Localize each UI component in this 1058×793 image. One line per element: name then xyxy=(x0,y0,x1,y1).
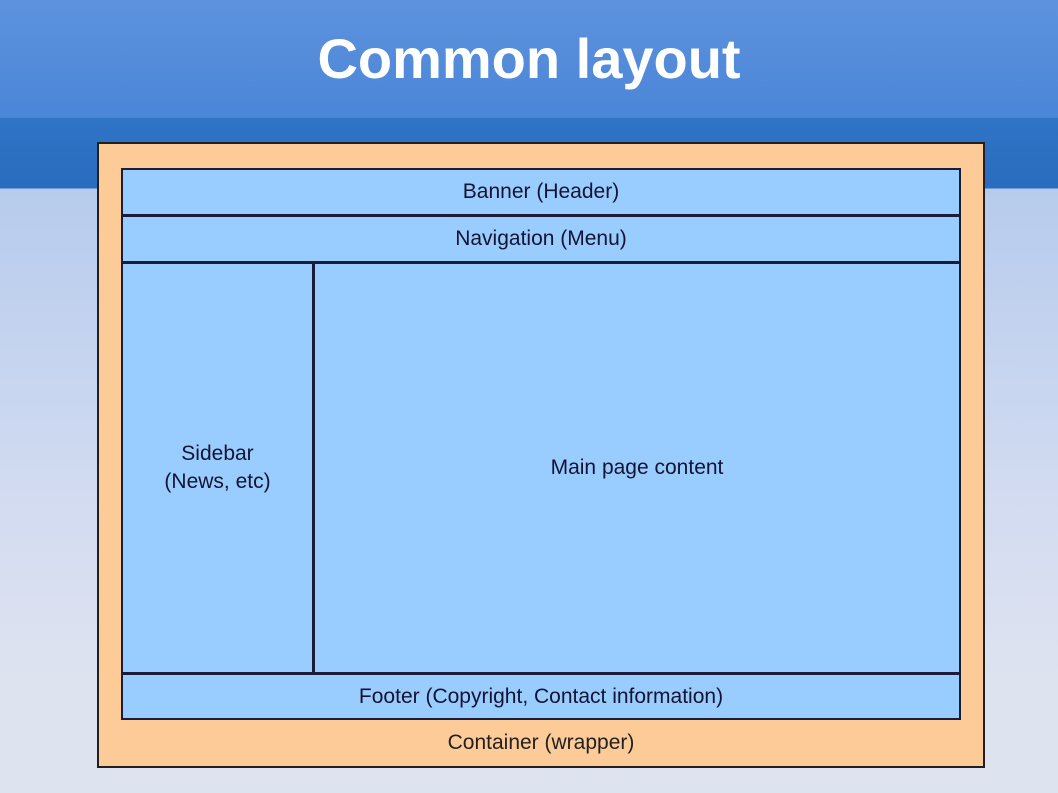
main-content-label: Main page content xyxy=(551,454,724,482)
sidebar-label-group: Sidebar (News, etc) xyxy=(164,440,270,496)
navigation-menu-label: Navigation (Menu) xyxy=(455,225,627,253)
main-content-box: Main page content xyxy=(313,262,961,674)
navigation-menu-box: Navigation (Menu) xyxy=(121,215,961,263)
container-wrapper-label: Container (wrapper) xyxy=(99,726,983,760)
banner-header-box: Banner (Header) xyxy=(121,168,961,216)
banner-header-label: Banner (Header) xyxy=(463,178,619,206)
sidebar-box: Sidebar (News, etc) xyxy=(121,262,314,674)
sidebar-label-line1: Sidebar xyxy=(181,442,253,465)
container-wrapper-box: Banner (Header) Navigation (Menu) Sideba… xyxy=(97,142,985,768)
footer-box: Footer (Copyright, Contact information) xyxy=(121,673,961,720)
sidebar-label-line2: (News, etc) xyxy=(164,470,270,493)
footer-label: Footer (Copyright, Contact information) xyxy=(359,683,723,711)
slide-title: Common layout xyxy=(0,26,1058,92)
slide: Common layout Banner (Header) Navigation… xyxy=(0,0,1058,793)
